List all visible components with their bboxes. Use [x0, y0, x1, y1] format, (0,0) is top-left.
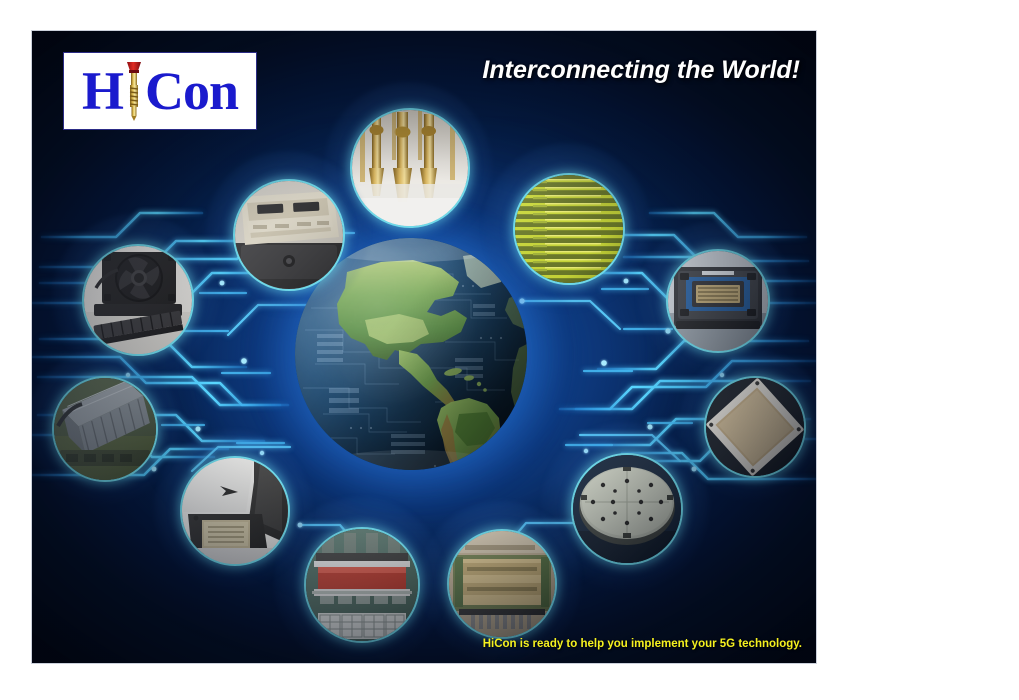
flex-cable-art	[515, 175, 623, 283]
fan-module-art	[84, 246, 192, 354]
product-image-test-fixture	[304, 527, 420, 643]
product-image-heatsink	[52, 376, 158, 482]
product-image-lid-socket	[180, 456, 290, 566]
heatsink-art	[54, 378, 156, 480]
lid-socket-art	[182, 458, 288, 564]
product-image-ceramic-substrate	[704, 376, 806, 478]
spring-pin-icon	[124, 60, 144, 122]
logo-text-after: Con	[145, 64, 238, 118]
product-image-ic-test-socket	[666, 249, 770, 353]
logo-text-before: H	[82, 64, 123, 118]
test-fixture-art	[306, 529, 418, 641]
page-canvas: H	[0, 0, 1019, 700]
product-image-gold-connector	[447, 529, 557, 639]
slide-footer-text: HiCon is ready to help you implement you…	[362, 634, 802, 654]
ceramic-substrate-art	[706, 378, 804, 476]
product-image-flex-cable	[513, 173, 625, 285]
hicon-logo[interactable]: H	[63, 52, 257, 130]
pogo-pins-art	[352, 110, 468, 226]
probe-wafer-art	[573, 455, 681, 563]
product-image-fan-module	[82, 244, 194, 356]
gold-connector-art	[449, 531, 555, 637]
ic-test-socket-art	[668, 251, 768, 351]
product-image-probe-wafer	[571, 453, 683, 565]
presentation-slide: H	[32, 31, 816, 663]
hicon-wordmark: H	[82, 60, 238, 122]
slide-tagline: Interconnecting the World!	[448, 53, 800, 87]
plastic-housing-art	[235, 181, 343, 289]
product-image-pogo-pins	[350, 108, 470, 228]
product-image-plastic-housing	[233, 179, 345, 291]
